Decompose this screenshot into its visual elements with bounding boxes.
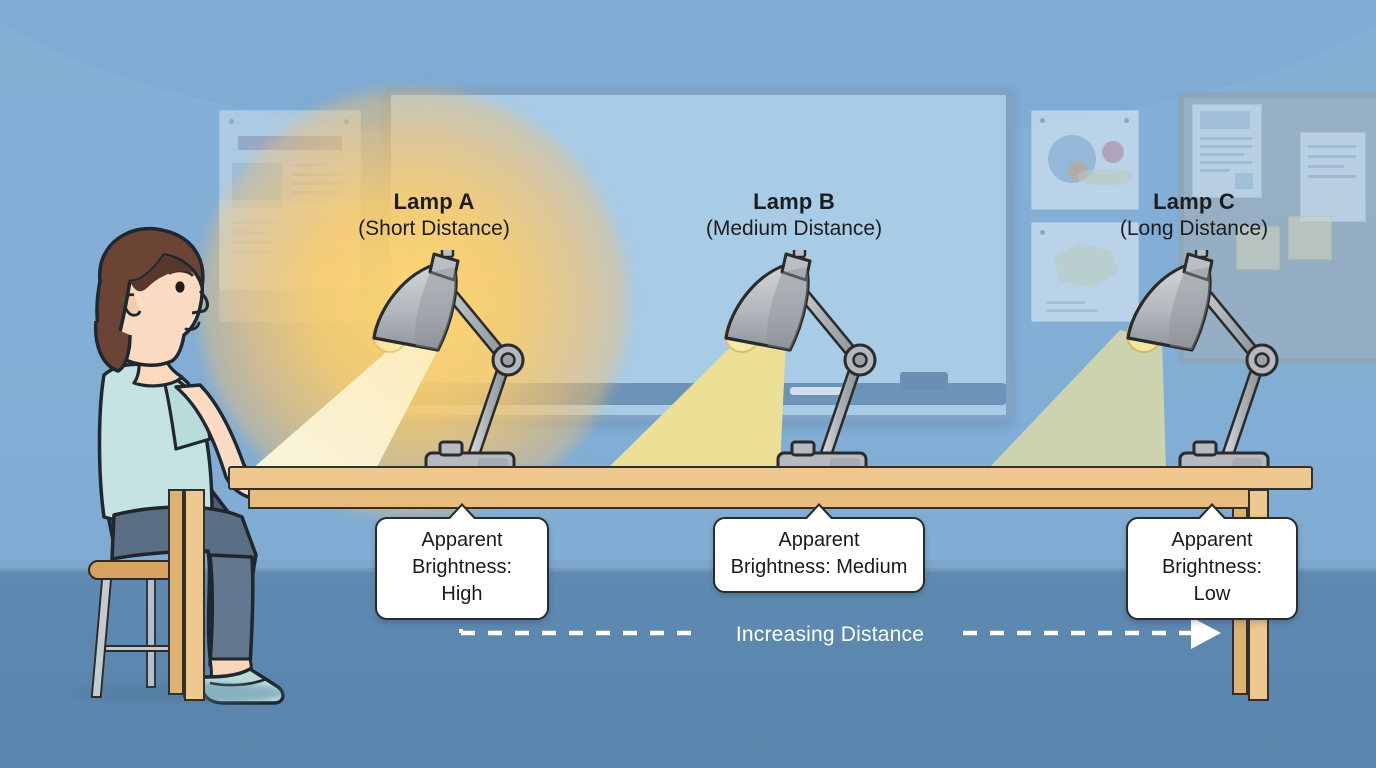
lamp-a-brightness-line2: Brightness: High xyxy=(391,554,533,608)
lamp-b[interactable] xyxy=(720,250,895,490)
lamp-b-brightness-callout: Apparent Brightness: Medium xyxy=(713,517,925,593)
lamp-a[interactable] xyxy=(368,250,543,490)
table-apron xyxy=(248,489,1258,509)
diagram-canvas: Lamp A (Short Distance) Lamp B (Medium D… xyxy=(0,0,1376,768)
lamp-a-title: Lamp A xyxy=(318,188,550,215)
lamp-b-brightness-line2: Brightness: Medium xyxy=(729,554,909,581)
lamp-b-brightness-line1: Apparent xyxy=(729,527,909,554)
lamp-a-brightness-line1: Apparent xyxy=(391,527,533,554)
lamp-c-label: Lamp C (Long Distance) xyxy=(1078,188,1310,243)
lamp-b-label: Lamp B (Medium Distance) xyxy=(678,188,910,243)
table-leg-front-left xyxy=(184,489,205,701)
lamp-b-title: Lamp B xyxy=(678,188,910,215)
stool-leg-back xyxy=(146,576,156,688)
table-top xyxy=(228,466,1313,490)
lamp-c-brightness-line2: Brightness: Low xyxy=(1142,554,1282,608)
lamp-c[interactable] xyxy=(1122,250,1297,490)
lamp-a-label: Lamp A (Short Distance) xyxy=(318,188,550,243)
lamp-b-subtitle: (Medium Distance) xyxy=(678,215,910,243)
whiteboard-eraser xyxy=(900,372,948,390)
lamp-a-brightness-callout: Apparent Brightness: High xyxy=(375,517,549,620)
lamp-c-title: Lamp C xyxy=(1078,188,1310,215)
lamp-a-subtitle: (Short Distance) xyxy=(318,215,550,243)
table-leg-back-left xyxy=(168,489,184,695)
lamp-c-brightness-callout: Apparent Brightness: Low xyxy=(1126,517,1298,620)
lamp-c-brightness-line1: Apparent xyxy=(1142,527,1282,554)
increasing-distance-label: Increasing Distance xyxy=(710,620,950,650)
lamp-c-subtitle: (Long Distance) xyxy=(1078,215,1310,243)
